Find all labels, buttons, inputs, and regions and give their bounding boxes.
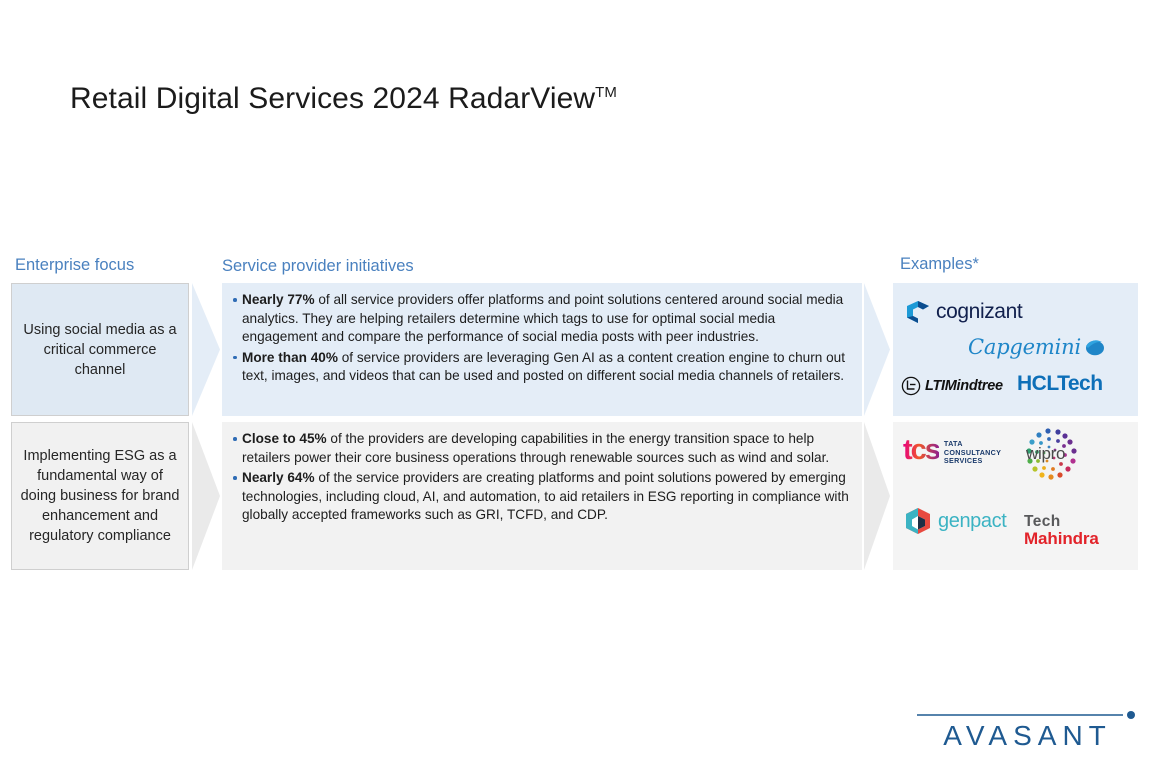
bullet-item: More than 40% of service providers are l… bbox=[228, 349, 852, 386]
column-header-service-provider-initiatives: Service provider initiatives bbox=[222, 257, 414, 276]
arrow-connector-initiatives-to-examples-2 bbox=[862, 422, 894, 570]
bullet-dot-icon bbox=[228, 476, 242, 480]
page-title: Retail Digital Services 2024 RadarViewTM bbox=[70, 82, 617, 116]
enterprise-focus-box-1: Using social media as a critical commerc… bbox=[11, 283, 189, 416]
logo-tcs: tcs TATACONSULTANCYSERVICES bbox=[903, 436, 1001, 466]
initiatives-panel-1: Nearly 77% of all service providers offe… bbox=[222, 283, 862, 416]
capgemini-wordmark: Capgemini bbox=[968, 335, 1081, 359]
bullet-rest: of the service providers are creating pl… bbox=[242, 470, 849, 522]
wipro-wordmark: wipro bbox=[1026, 444, 1065, 464]
bullet-lead: More than 40% bbox=[242, 350, 338, 365]
bullet-lead: Nearly 77% bbox=[242, 292, 315, 307]
tcs-tagline: TATACONSULTANCYSERVICES bbox=[944, 440, 1001, 466]
logo-wipro: wipro bbox=[1026, 444, 1065, 464]
bullet-dot-icon bbox=[228, 437, 242, 441]
logo-genpact: genpact bbox=[903, 506, 1006, 536]
examples-panel-2: tcs TATACONSULTANCYSERVICES bbox=[893, 422, 1138, 570]
avasant-logo: AVASANT bbox=[915, 706, 1140, 752]
bullet-text: Nearly 64% of the service providers are … bbox=[242, 469, 852, 525]
lt-mark-icon bbox=[901, 376, 921, 396]
genpact-mark-icon bbox=[903, 506, 933, 536]
logo-hcltech: HCLTech bbox=[1017, 372, 1103, 396]
bullet-lead: Nearly 64% bbox=[242, 470, 315, 485]
tcs-wordmark: tcs bbox=[903, 436, 939, 464]
enterprise-focus-box-2: Implementing ESG as a fundamental way of… bbox=[11, 422, 189, 570]
bullet-item: Close to 45% of the providers are develo… bbox=[228, 430, 852, 467]
cognizant-mark-icon bbox=[905, 299, 931, 325]
bullet-dot-icon bbox=[228, 298, 242, 302]
logo-ltimindtree: LTIMindtree bbox=[901, 376, 1003, 396]
examples-panel-1: cognizant Capgemini LTIMindtree HCLTech bbox=[893, 283, 1138, 416]
bullet-item: Nearly 77% of all service providers offe… bbox=[228, 291, 852, 347]
techmahindra-wordmark-line1: Tech bbox=[1024, 514, 1061, 530]
logo-capgemini: Capgemini bbox=[968, 335, 1105, 359]
logo-cognizant: cognizant bbox=[905, 299, 1022, 325]
column-header-examples: Examples* bbox=[900, 255, 979, 274]
arrow-connector-focus-to-initiatives-1 bbox=[190, 283, 224, 416]
column-header-enterprise-focus: Enterprise focus bbox=[15, 256, 134, 275]
bullet-text: More than 40% of service providers are l… bbox=[242, 349, 852, 386]
bullet-text: Nearly 77% of all service providers offe… bbox=[242, 291, 852, 347]
initiatives-panel-2: Close to 45% of the providers are develo… bbox=[222, 422, 862, 570]
bullet-lead: Close to 45% bbox=[242, 431, 327, 446]
arrow-connector-focus-to-initiatives-2 bbox=[190, 422, 224, 570]
techmahindra-wordmark-line2: Mahindra bbox=[1024, 530, 1099, 548]
bullet-text: Close to 45% of the providers are develo… bbox=[242, 430, 852, 467]
genpact-wordmark: genpact bbox=[938, 510, 1006, 533]
bullet-rest: of all service providers offer platforms… bbox=[242, 292, 843, 344]
ltimindtree-wordmark: LTIMindtree bbox=[925, 378, 1003, 394]
avasant-wordmark: AVASANT bbox=[915, 720, 1140, 752]
cognizant-wordmark: cognizant bbox=[936, 300, 1022, 324]
bullet-dot-icon bbox=[228, 356, 242, 360]
arrow-connector-initiatives-to-examples-1 bbox=[862, 283, 894, 416]
capgemini-mark-icon bbox=[1083, 338, 1105, 356]
hcltech-wordmark: HCLTech bbox=[1017, 372, 1103, 396]
slide-canvas: Retail Digital Services 2024 RadarViewTM… bbox=[0, 0, 1152, 768]
trademark-symbol: TM bbox=[595, 84, 617, 101]
logo-tech-mahindra: Tech Mahindra bbox=[1024, 514, 1099, 548]
bullet-rest: of the providers are developing capabili… bbox=[242, 431, 829, 465]
bullet-item: Nearly 64% of the service providers are … bbox=[228, 469, 852, 525]
page-title-text: Retail Digital Services 2024 RadarView bbox=[70, 82, 595, 115]
